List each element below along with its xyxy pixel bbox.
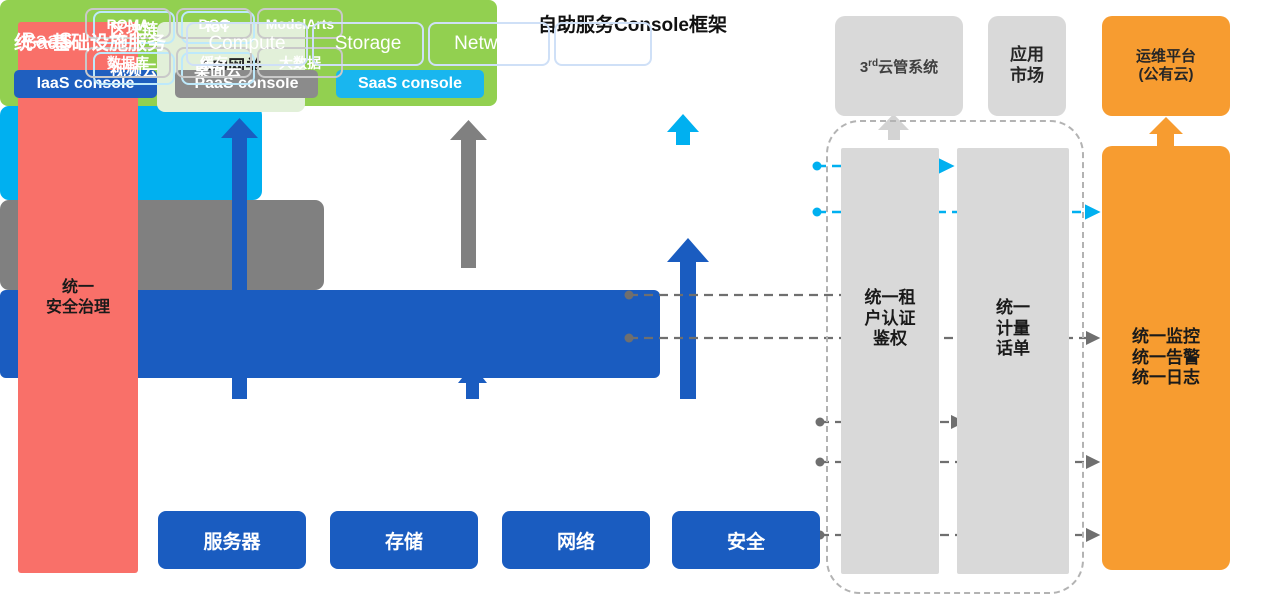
security-governance-column: 统一 安全治理 <box>18 22 138 573</box>
arrow-saas-to-console <box>667 114 699 145</box>
arrow-ops-body-to-ops-top <box>1149 117 1183 146</box>
app-market-box: 应用 市场 <box>988 16 1066 116</box>
ops-platform-capabilities-column: 统一监控 统一告警 统一日志 <box>1102 146 1230 570</box>
ops-platform-box: 运维平台 (公有云) <box>1102 16 1230 116</box>
app-market-label: 应用 市场 <box>1010 45 1044 86</box>
ops-platform-capabilities-label: 统一监控 统一告警 统一日志 <box>1132 327 1200 389</box>
unified-metering-billing-label: 统一 计量 话单 <box>996 298 1030 360</box>
arrow-infra-to-saas <box>667 238 709 399</box>
unified-infrastructure-title: 统一基础设施服务 <box>14 28 166 55</box>
unified-metering-billing-column: 统一 计量 话单 <box>957 148 1069 574</box>
infra-service-compute[interactable]: Compute <box>186 22 308 66</box>
arrow-paas-to-console <box>450 120 487 268</box>
infra-service-network[interactable]: Network <box>428 22 550 66</box>
resource-box-network: 网络 <box>502 511 650 569</box>
architecture-diagram: 统一 安全治理 API网关 自助服务Console框架 IaaS console… <box>0 0 1265 605</box>
ops-platform-label: 运维平台 (公有云) <box>1136 48 1196 85</box>
third-party-cloud-mgmt-label: 3rd云管系统 <box>860 56 938 77</box>
resource-box-server: 服务器 <box>158 511 306 569</box>
unified-tenant-auth-column: 统一租 户认证 鉴权 <box>841 148 939 574</box>
saas-console-chip[interactable]: SaaS console <box>336 70 484 98</box>
unified-tenant-auth-label: 统一租 户认证 鉴权 <box>865 288 916 350</box>
third-party-cloud-mgmt-box: 3rd云管系统 <box>835 16 963 116</box>
security-governance-label: 统一 安全治理 <box>46 278 110 317</box>
infra-service-storage[interactable]: Storage <box>312 22 424 66</box>
resource-box-storage: 存储 <box>330 511 478 569</box>
infra-service-cce[interactable]: CCE <box>554 22 652 66</box>
resource-box-security: 安全 <box>672 511 820 569</box>
